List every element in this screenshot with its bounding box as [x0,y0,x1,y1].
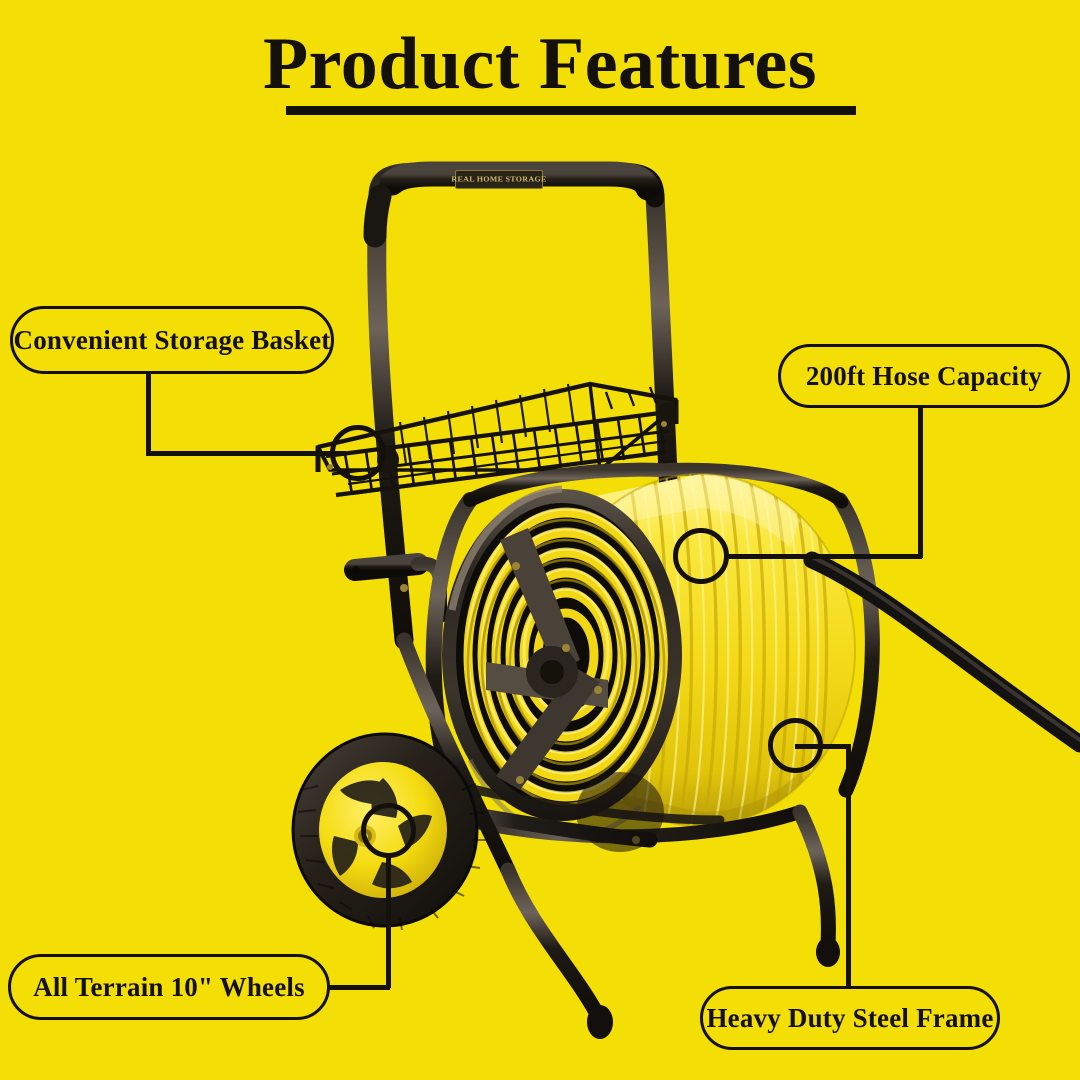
marker-hose-capacity [673,528,729,584]
leader-line-basket-horizontal [146,451,346,456]
brand-badge: REAL HOME STORAGE [455,170,543,189]
callout-storage-basket[interactable]: Convenient Storage Basket [10,306,334,374]
callout-steel-frame-label: Heavy Duty Steel Frame [706,1003,993,1033]
callout-all-terrain-wheels-label: All Terrain 10" Wheels [33,972,305,1002]
leader-line-capacity-vertical [918,406,923,558]
callout-storage-basket-label: Convenient Storage Basket [14,325,331,355]
hose-reel-assembly [434,469,873,836]
leader-line-wheels-vertical [386,856,391,988]
brand-badge-label: REAL HOME STORAGE [451,175,546,183]
callout-hose-capacity-label: 200ft Hose Capacity [806,361,1042,391]
leader-line-wheels-horizontal [328,985,390,990]
marker-steel-frame [768,718,823,773]
product-features-infographic: Product Features [0,0,1080,1080]
leader-line-frame-vertical [846,744,851,989]
marker-storage-basket [330,425,386,481]
callout-hose-capacity[interactable]: 200ft Hose Capacity [778,344,1070,408]
marker-all-terrain-wheels [361,803,416,858]
leader-line-basket-vertical [146,372,151,454]
leader-line-capacity-horizontal [726,554,922,559]
callout-all-terrain-wheels[interactable]: All Terrain 10" Wheels [8,954,330,1020]
callout-steel-frame[interactable]: Heavy Duty Steel Frame [700,986,1000,1050]
